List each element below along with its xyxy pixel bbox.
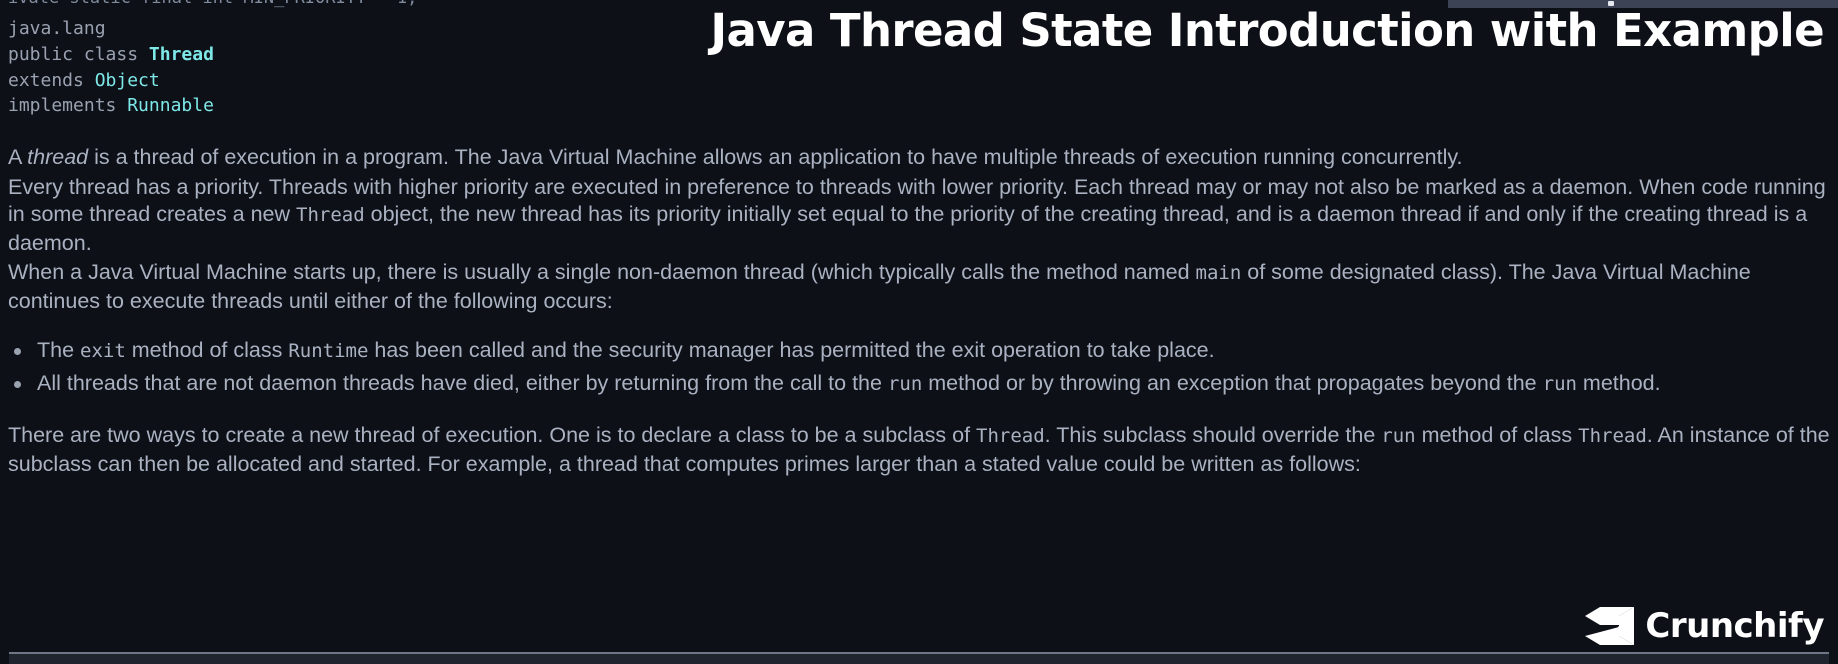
- p4-code-run: run: [1381, 425, 1415, 447]
- bullet1-text-b: method or by throwing an exception that …: [922, 371, 1542, 395]
- code-block-peek: [9, 652, 1829, 664]
- list-item: The exit method of class Runtime has bee…: [8, 337, 1830, 366]
- crunchify-logo: Crunchify: [1584, 606, 1824, 646]
- signature-class-name: Thread: [149, 44, 214, 65]
- paragraph-creation-ways: There are two ways to create a new threa…: [8, 422, 1830, 478]
- signature-declaration-prefix: public class: [8, 44, 149, 65]
- bullet0-code-exit: exit: [80, 340, 126, 362]
- paragraph-startup: When a Java Virtual Machine starts up, t…: [8, 259, 1830, 315]
- list-item: All threads that are not daemon threads …: [8, 370, 1830, 399]
- p3-code-main: main: [1196, 262, 1242, 284]
- bullet1-code-run-2: run: [1543, 373, 1577, 395]
- p4-code-thread-2: Thread: [1578, 425, 1647, 447]
- signature-extends-keyword: extends: [8, 70, 95, 91]
- bullet1-text-a: All threads that are not daemon threads …: [37, 371, 888, 395]
- signature-implements-type: Runnable: [127, 95, 214, 116]
- bullet0-text-c: has been called and the security manager…: [368, 338, 1214, 362]
- termination-conditions-list: The exit method of class Runtime has bee…: [8, 337, 1830, 398]
- crunchify-chevron-icon: [1584, 606, 1636, 646]
- paragraph-priority: Every thread has a priority. Threads wit…: [8, 174, 1830, 258]
- clipped-code-text: ivate static final int MIN_PRIORITY = 1;: [8, 0, 417, 10]
- p4-text-b: . This subclass should override the: [1045, 423, 1382, 447]
- signature-implements-keyword: implements: [8, 95, 127, 116]
- p2-code-thread: Thread: [296, 204, 365, 226]
- p1-text-a: A: [8, 145, 27, 169]
- crunchify-wordmark: Crunchify: [1645, 609, 1824, 643]
- paragraph-definition: A thread is a thread of execution in a p…: [8, 144, 1830, 172]
- signature-package: java.lang: [8, 18, 106, 39]
- p4-code-thread-1: Thread: [976, 425, 1045, 447]
- bullet0-text-b: method of class: [126, 338, 289, 362]
- bullet1-code-run: run: [888, 373, 922, 395]
- article-body: A thread is a thread of execution in a p…: [8, 144, 1830, 478]
- bullet-dot-icon: [14, 348, 21, 355]
- class-signature-block: java.lang public class Thread extends Ob…: [8, 16, 214, 119]
- page-title: Java Thread State Introduction with Exam…: [710, 8, 1824, 53]
- signature-extends-type: Object: [95, 70, 160, 91]
- article-page: ivate static final int MIN_PRIORITY = 1;…: [0, 0, 1838, 664]
- bullet0-code-runtime: Runtime: [288, 340, 368, 362]
- p4-text-c: method of class: [1416, 423, 1579, 447]
- bullet1-text-c: method.: [1577, 371, 1661, 395]
- p3-text-a: When a Java Virtual Machine starts up, t…: [8, 260, 1196, 284]
- bullet-dot-icon: [14, 381, 21, 388]
- p1-text-b: is a thread of execution in a program. T…: [88, 145, 1462, 169]
- bullet0-text-a: The: [37, 338, 80, 362]
- p1-emphasis-thread: thread: [27, 145, 88, 169]
- p4-text-a: There are two ways to create a new threa…: [8, 423, 976, 447]
